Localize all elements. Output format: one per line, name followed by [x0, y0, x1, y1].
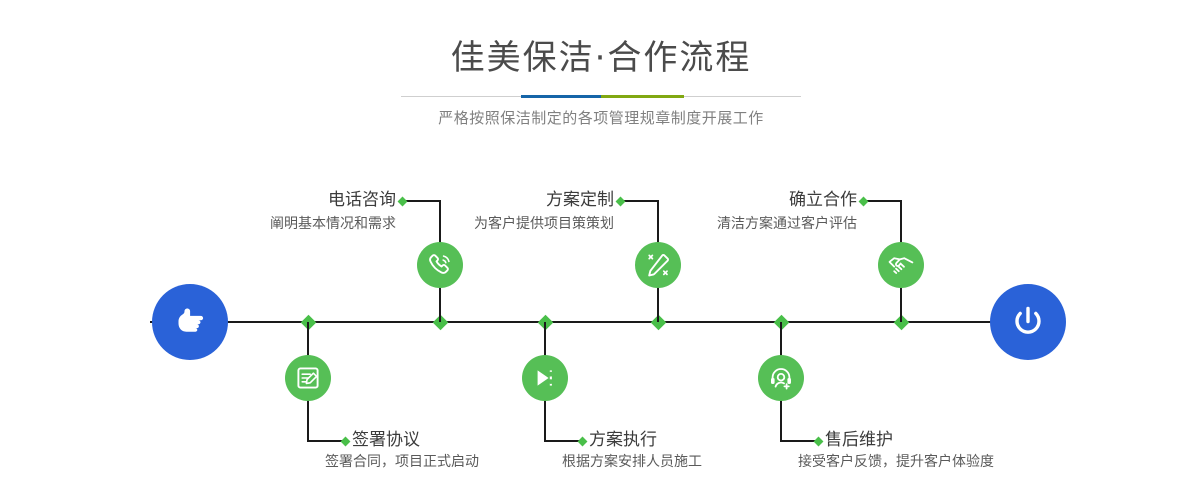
page-title: 佳美保洁·合作流程	[0, 36, 1202, 80]
connector-horizontal-top-3	[864, 200, 901, 202]
step-icon-top-1	[417, 242, 463, 288]
title-divider	[401, 95, 801, 98]
document-sign-icon	[295, 365, 321, 391]
phone-call-icon	[426, 251, 454, 279]
connector-horizontal-top-2	[621, 200, 658, 202]
timeline-start-node	[152, 284, 228, 360]
step-icon-top-2	[635, 242, 681, 288]
label-diamond-top-3	[859, 196, 869, 206]
divider-segment-blue	[521, 95, 601, 98]
power-icon	[1007, 301, 1049, 343]
label-diamond-bottom-1	[341, 436, 351, 446]
page-subtitle: 严格按照保洁制定的各项管理规章制度开展工作	[0, 106, 1202, 130]
step-icon-bottom-1	[285, 355, 331, 401]
label-diamond-top-1	[398, 196, 408, 206]
step-desc-bottom-3: 接受客户反馈，提升客户体验度	[798, 452, 1098, 472]
step-icon-top-3	[878, 242, 924, 288]
step-desc-top-2: 为客户提供项目策策划	[380, 214, 614, 234]
timeline-axis	[150, 321, 1052, 323]
divider-segment-green	[601, 95, 684, 98]
step-title-bottom-3: 售后维护	[825, 429, 1095, 451]
pointing-hand-icon	[170, 302, 210, 342]
step-icon-bottom-3	[758, 355, 804, 401]
headset-support-icon	[768, 365, 794, 391]
label-diamond-top-2	[616, 196, 626, 206]
play-execute-icon	[532, 365, 558, 391]
step-desc-top-1: 阐明基本情况和需求	[160, 214, 396, 234]
handshake-icon	[887, 251, 915, 279]
step-title-top-2: 方案定制	[420, 189, 614, 211]
pencil-design-icon	[644, 251, 672, 279]
step-title-top-3: 确立合作	[665, 189, 857, 211]
step-desc-top-3: 清洁方案通过客户评估	[620, 214, 857, 234]
step-icon-bottom-2	[522, 355, 568, 401]
process-flow-infographic: 佳美保洁·合作流程 严格按照保洁制定的各项管理规章制度开展工作 电话咨询	[0, 0, 1202, 502]
timeline-end-node	[990, 284, 1066, 360]
step-title-top-1: 电话咨询	[200, 189, 396, 211]
